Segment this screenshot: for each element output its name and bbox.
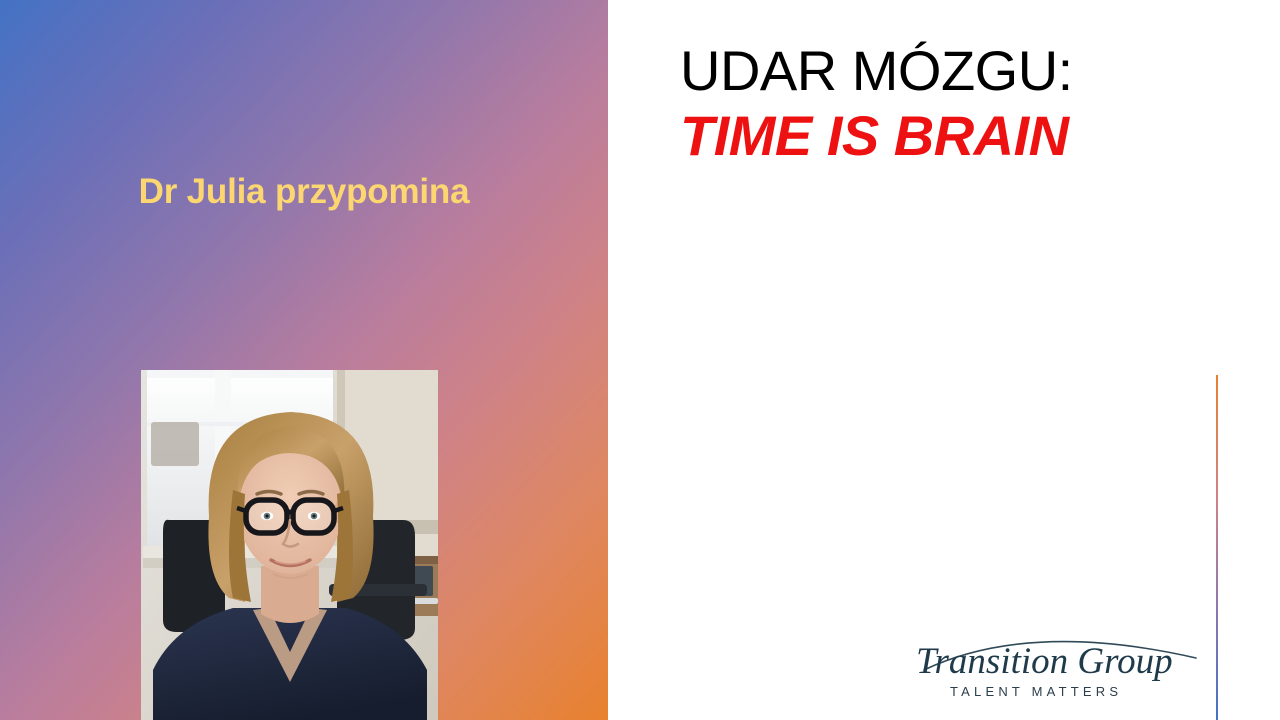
right-content-panel: UDAR MÓZGU: TIME IS BRAIN F - face A - a… xyxy=(608,0,1280,720)
presenter-photo xyxy=(141,370,438,720)
left-gradient-panel: Dr Julia przypomina xyxy=(0,0,608,720)
logo-wordmark-text: Transition Group xyxy=(916,641,1173,682)
page-title: UDAR MÓZGU: TIME IS BRAIN xyxy=(680,40,1240,167)
transition-group-logo: Transition Group TALENT MATTERS xyxy=(910,628,1210,708)
slide-canvas: Dr Julia przypomina xyxy=(0,0,1280,720)
title-line-primary: UDAR MÓZGU: xyxy=(680,40,1240,103)
presenter-title: Dr Julia przypomina xyxy=(0,172,608,212)
logo-tagline-text: TALENT MATTERS xyxy=(950,684,1122,699)
vertical-accent-line xyxy=(1216,375,1218,720)
title-line-tagline: TIME IS BRAIN xyxy=(680,105,1240,168)
